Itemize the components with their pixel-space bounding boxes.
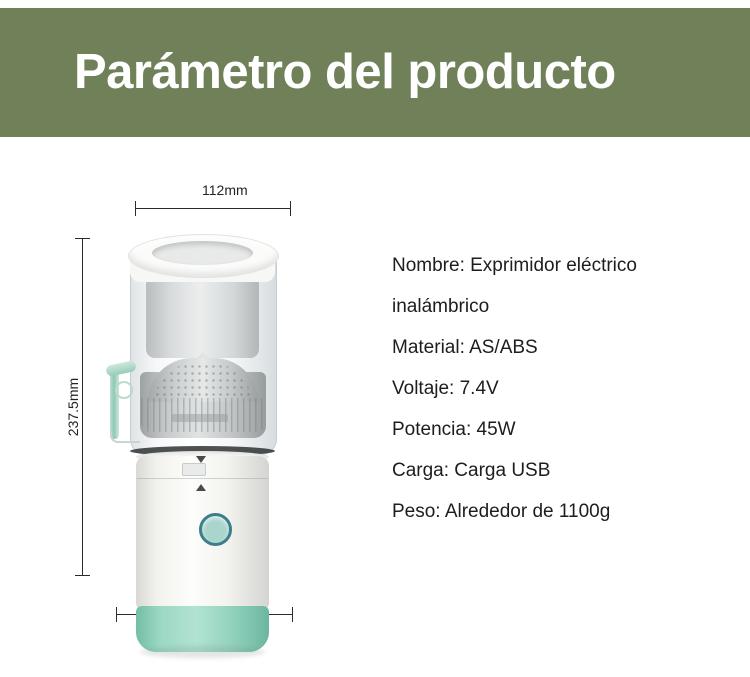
base-shadow (140, 646, 265, 658)
spec-line-material: Material: AS/ABS (392, 327, 732, 368)
arrow-down-icon (196, 456, 206, 463)
lid-opening (152, 241, 253, 265)
arrow-up-icon (196, 484, 206, 491)
spec-line-power: Potencia: 45W (392, 409, 732, 450)
body-seam-line (137, 478, 268, 479)
dimension-tick-left-top (75, 238, 90, 239)
dimension-tick-left-bottom (75, 575, 90, 576)
spec-line-voltage: Voltaje: 7.4V (392, 368, 732, 409)
lever-hook (110, 431, 140, 443)
latch-icon (182, 463, 206, 476)
green-lever-handle (102, 359, 136, 441)
lever-arm (105, 360, 137, 377)
product-dimension-diagram: 112mm 237.5mm 138mm (0, 137, 380, 652)
dimension-line-height-left (82, 238, 83, 575)
page-title: Parámetro del producto (74, 48, 616, 97)
dimension-line-width-top (135, 208, 291, 209)
dimension-tick-top-left (135, 201, 136, 216)
specification-list: Nombre: Exprimidor eléctrico inalámbrico… (392, 245, 732, 532)
lever-clip-icon (115, 381, 133, 399)
power-button[interactable] (199, 513, 232, 546)
spec-line-charging: Carga: Carga USB (392, 450, 732, 491)
spec-line-name: Nombre: Exprimidor eléctrico (392, 245, 732, 286)
lever-stem (110, 371, 119, 439)
strainer-perforations (156, 365, 250, 397)
page-header-banner: Parámetro del producto (0, 8, 750, 137)
product-image-juicer (100, 232, 295, 677)
dimension-label-width-top: 112mm (202, 182, 248, 198)
dimension-label-height-left: 237.5mm (65, 367, 81, 447)
dimension-tick-top-right (290, 201, 291, 216)
spec-line-weight: Peso: Alrededor de 1100g (392, 491, 732, 532)
inner-cup (146, 280, 259, 358)
strainer-band-label (172, 414, 228, 422)
spec-line-name-continued: inalámbrico (392, 286, 732, 327)
